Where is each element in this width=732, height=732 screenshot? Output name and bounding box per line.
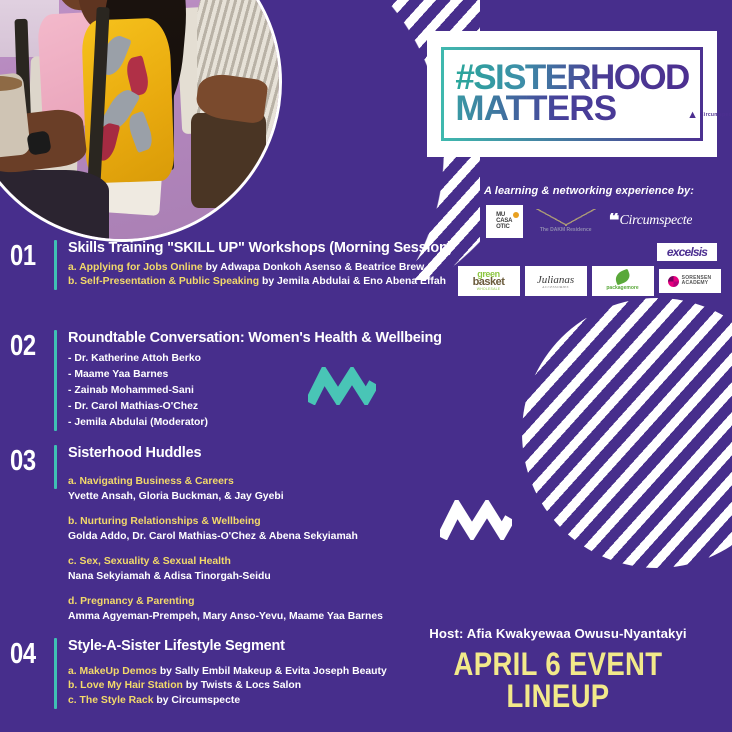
sponsors-row-2: greenbasketWHOLESALE JulianasACCESSORIES… — [455, 266, 723, 296]
sponsor-sorensen-academy: SORENSENACADEMY — [659, 269, 721, 293]
huddle-topic: c. Sex, Sexuality & Sexual Health — [68, 554, 383, 569]
huddle-names: Nana Sekyiamah & Adisa Tinorgah-Seidu — [68, 569, 383, 584]
agenda-accent-bar — [54, 330, 57, 431]
agenda-item-rest: by Twists & Locs Salon — [183, 680, 301, 691]
agenda-title: Skills Training "SKILL UP" Workshops (Mo… — [68, 240, 452, 257]
panelist: - Zainab Mohammed-Sani — [68, 383, 442, 399]
sponsor-excelsis: excelsis — [657, 243, 717, 261]
circumspecte-trademark: ▲ Circumspecte — [687, 110, 732, 121]
panelist: - Dr. Carol Mathias-O'Chez — [68, 399, 442, 415]
quote-icon: ❝ — [609, 214, 617, 228]
agenda-item-rest: by Adwapa Donkoh Asenso & Beatrice Brew — [203, 262, 425, 273]
logo-frame: #SISTERHOOD MATTERS ▲ Circumspecte — [441, 47, 703, 141]
sponsors-row-1b: excelsis — [455, 243, 723, 261]
agenda-item: c. The Style Rack by Circumspecte — [68, 694, 387, 709]
huddle-topic: b. Nurturing Relationships & Wellbeing — [68, 514, 383, 529]
agenda-item-highlight: b. Love My Hair Station — [68, 680, 183, 691]
huddle-topic: a. Navigating Business & Careers — [68, 474, 383, 489]
sponsor-dakm-label: The DAKM Residence — [540, 227, 592, 233]
huddle: c. Sex, Sexuality & Sexual Health Nana S… — [68, 554, 383, 584]
agenda-item-highlight: b. Self-Presentation & Public Speaking — [68, 276, 259, 287]
agenda-section-04: 04 Style-A-Sister Lifestyle Segment a. M… — [0, 638, 387, 709]
agenda-item: b. Love My Hair Station by Twists & Locs… — [68, 679, 387, 694]
agenda-number: 01 — [10, 240, 46, 271]
huddle: b. Nurturing Relationships & Wellbeing G… — [68, 514, 383, 544]
agenda-item: b. Self-Presentation & Public Speaking b… — [68, 275, 452, 290]
agenda-item-highlight: c. The Style Rack — [68, 695, 153, 706]
sorensen-icon — [668, 276, 679, 287]
agenda-item-highlight: a. MakeUp Demos — [68, 666, 157, 677]
sponsor-circumspecte-label: Circumspecte — [619, 213, 692, 229]
agenda-number: 02 — [10, 330, 46, 361]
logo-line-2: MATTERS — [455, 94, 688, 125]
sponsor-packagemore: packagemore — [592, 266, 654, 296]
agenda-item-rest: by Jemila Abdulai & Eno Abena Effah — [259, 276, 446, 287]
agenda-item: a. MakeUp Demos by Sally Embil Makeup & … — [68, 665, 387, 680]
agenda-accent-bar — [54, 638, 57, 709]
huddle: d. Pregnancy & Parenting Amma Agyeman-Pr… — [68, 594, 383, 624]
sponsor-circumspecte: ❝ Circumspecte — [609, 213, 693, 229]
agenda-title: Style-A-Sister Lifestyle Segment — [68, 638, 387, 655]
sponsors-title: A learning & networking experience by: — [455, 185, 723, 197]
sponsor-mu-casa-otic: MUCASAOTIC — [486, 205, 523, 238]
agenda-section-02: 02 Roundtable Conversation: Women's Heal… — [0, 330, 442, 431]
agenda-title: Roundtable Conversation: Women's Health … — [68, 330, 442, 347]
agenda-item-rest: by Circumspecte — [153, 695, 240, 706]
event-photo-illustration — [0, 0, 279, 239]
agenda-number: 04 — [10, 638, 46, 669]
agenda-item-highlight: a. Applying for Jobs Online — [68, 262, 203, 273]
sponsor-green-basket: greenbasketWHOLESALE — [458, 266, 520, 296]
sponsor-excelsis-label: excelsis — [667, 245, 707, 259]
striped-disc-decoration — [522, 298, 732, 568]
huddle-names: Yvette Ansah, Gloria Buckman, & Jay Gyeb… — [68, 489, 383, 504]
footer-block: Host: Afia Kwakyewaa Owusu-Nyantakyi APR… — [398, 626, 718, 712]
panelist: - Maame Yaa Barnes — [68, 367, 442, 383]
agenda-accent-bar — [54, 240, 57, 290]
circumspecte-label: Circumspecte — [700, 113, 732, 117]
agenda-number: 03 — [10, 445, 46, 476]
agenda-section-01: 01 Skills Training "SKILL UP" Workshops … — [0, 240, 452, 290]
huddle-topic: d. Pregnancy & Parenting — [68, 594, 383, 609]
panelist: - Jemila Abdulai (Moderator) — [68, 415, 442, 431]
sponsor-dakm-residence: The DAKM Residence — [529, 204, 603, 238]
agenda-section-03: 03 Sisterhood Huddles a. Navigating Busi… — [0, 445, 383, 634]
agenda-accent-bar — [54, 445, 57, 489]
leaf-icon — [613, 269, 631, 285]
agenda-item: a. Applying for Jobs Online by Adwapa Do… — [68, 261, 452, 276]
sisterhood-matters-logo: #SISTERHOOD MATTERS ▲ Circumspecte — [427, 31, 717, 157]
huddle-names: Golda Addo, Dr. Carol Mathias-O'Chez & A… — [68, 529, 383, 544]
event-photo — [0, 0, 282, 242]
zigzag-mark-white — [440, 500, 512, 540]
huddle-names: Amma Agyeman-Prempeh, Mary Anso-Yevu, Ma… — [68, 609, 383, 624]
huddle: a. Navigating Business & Careers Yvette … — [68, 474, 383, 504]
panelist: - Dr. Katherine Attoh Berko — [68, 351, 442, 367]
sponsors-block: A learning & networking experience by: M… — [455, 185, 723, 296]
agenda-title: Sisterhood Huddles — [68, 445, 383, 462]
house-roof-icon — [536, 209, 596, 226]
sponsor-julianas: JulianasACCESSORIES — [525, 266, 587, 296]
agenda-item-rest: by Sally Embil Makeup & Evita Joseph Bea… — [157, 666, 387, 677]
zigzag-icon: ▲ — [687, 110, 698, 121]
host-line: Host: Afia Kwakyewaa Owusu-Nyantakyi — [398, 626, 718, 641]
sponsors-row-1: MUCASAOTIC The DAKM Residence ❝ Circumsp… — [455, 204, 723, 238]
event-lineup-title: APRIL 6 EVENT LINEUP — [420, 648, 695, 712]
